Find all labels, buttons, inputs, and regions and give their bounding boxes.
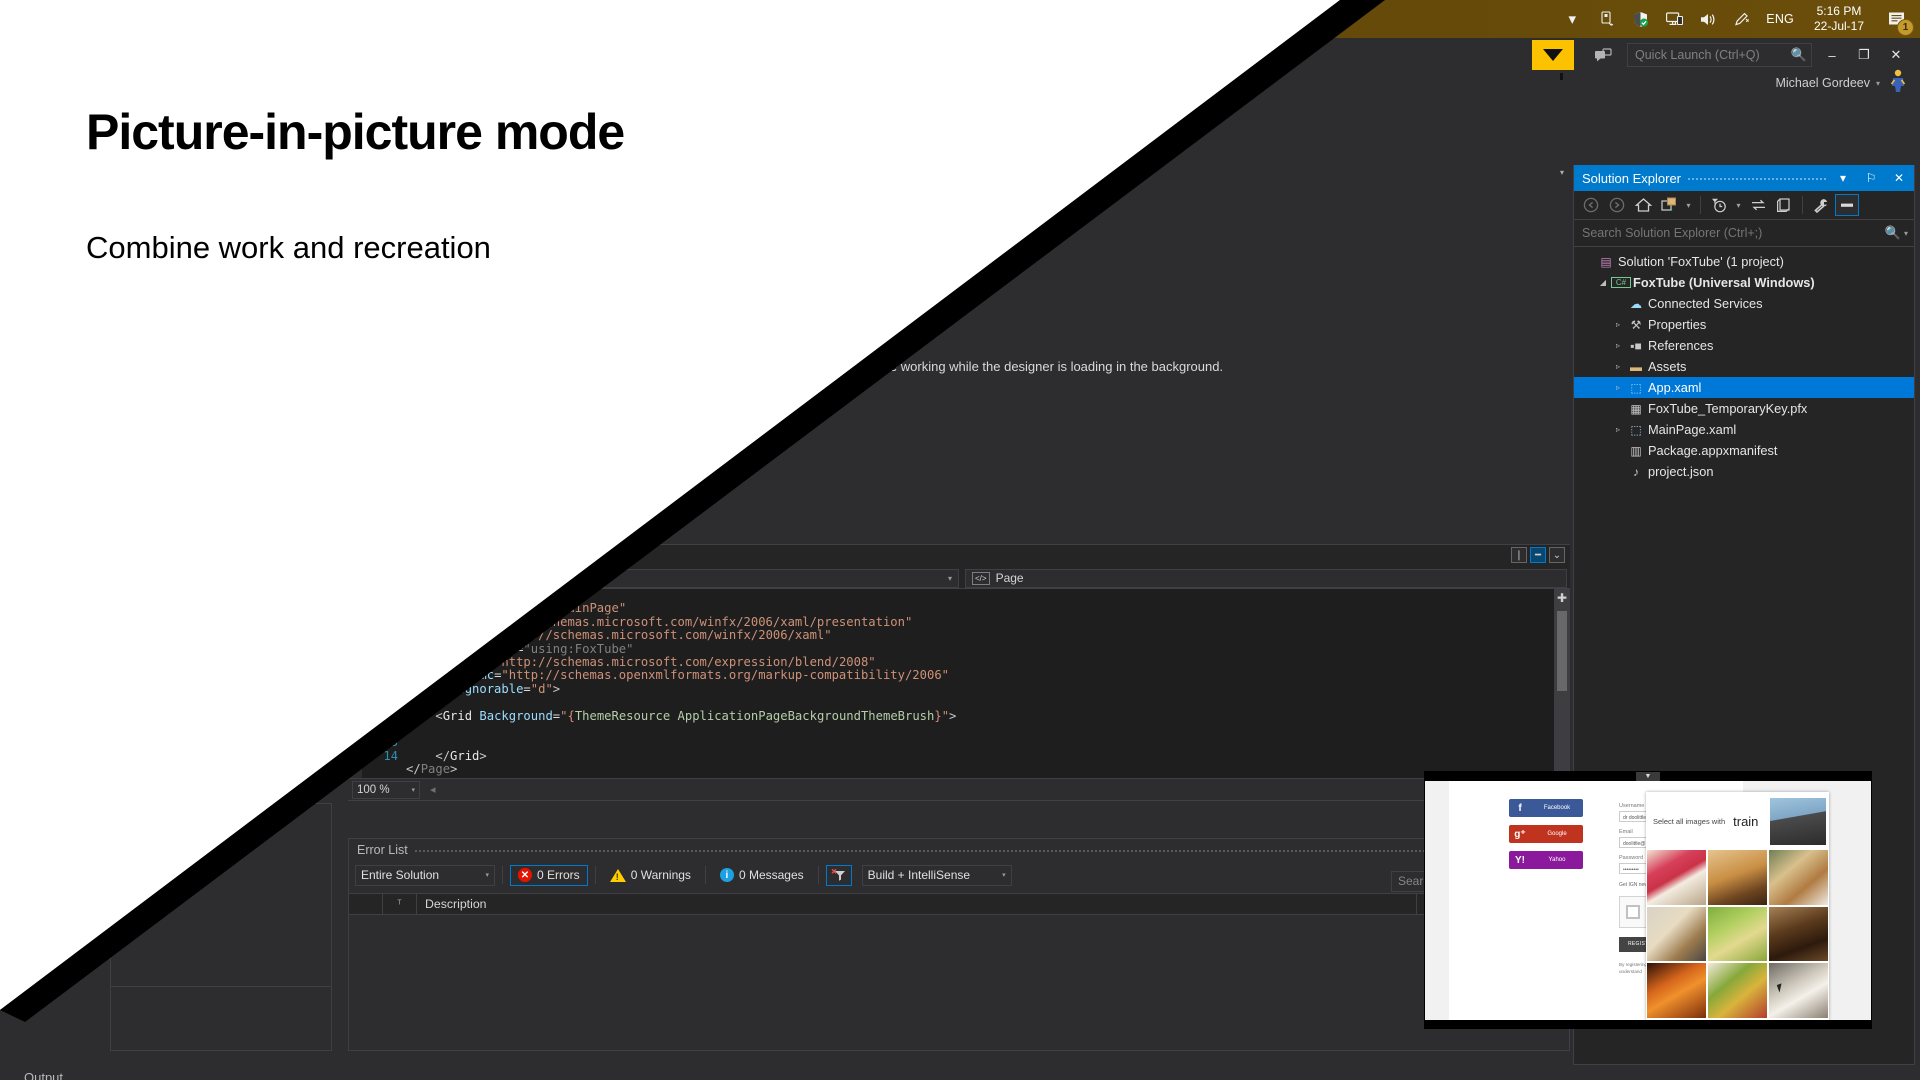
error-list-toolbar: Entire Solution ▾ ✕ 0 Errors 0 Warnings … — [349, 861, 1569, 889]
captcha-tile[interactable] — [1708, 907, 1767, 962]
scope-value: Entire Solution — [361, 868, 439, 882]
output-panel-frame — [110, 803, 332, 1051]
line-number: 8 — [362, 669, 398, 682]
captcha-header: Select all images with train — [1646, 792, 1829, 850]
expander-icon[interactable]: ◢ — [1595, 278, 1611, 287]
tree-item-label: Properties — [1646, 317, 1706, 332]
chevron-down-icon[interactable]: ▾ — [1683, 194, 1694, 216]
pip-video-content: f Facebook g⁺ Google Y! Yahoo Username d… — [1425, 781, 1871, 1020]
tree-item-assets[interactable]: ▹▬Assets — [1574, 356, 1914, 377]
registration-page: f Facebook g⁺ Google Y! Yahoo Username d… — [1449, 781, 1743, 1020]
build-filter-value: Build + IntelliSense — [868, 868, 970, 882]
toolbar-divider — [1802, 196, 1803, 214]
tree-item-references[interactable]: ▹▪■References — [1574, 335, 1914, 356]
references-icon: ▪■ — [1626, 339, 1646, 353]
line-number: 7 — [362, 656, 398, 669]
line-number-gutter: 234567891011121314 — [362, 589, 404, 779]
tree-item-label: project.json — [1646, 464, 1713, 479]
action-center-icon[interactable]: 1 — [1884, 6, 1910, 32]
line-number: 6 — [362, 643, 398, 656]
captcha-target-word: train — [1725, 814, 1758, 829]
chevron-down-icon: ▾ — [411, 786, 415, 794]
page-title: Picture-in-picture mode — [86, 103, 624, 161]
panel-drag-dots — [414, 839, 1569, 861]
facebook-label: Facebook — [1531, 805, 1583, 811]
toolbar-divider — [705, 866, 706, 884]
captcha-tile[interactable] — [1647, 963, 1706, 1018]
line-number: 2 — [362, 589, 398, 602]
google-login-button[interactable]: g⁺ Google — [1509, 825, 1583, 843]
pin-icon[interactable]: ⚐ — [1860, 167, 1882, 189]
picture-in-picture-window[interactable]: ▼ f Facebook g⁺ Google Y! Yahoo — [1425, 772, 1871, 1028]
code-line-12 — [406, 736, 1546, 749]
quick-launch-text: Quick Launch (Ctrl+Q) — [1635, 48, 1760, 62]
home-icon[interactable] — [1631, 194, 1655, 216]
quick-launch-input[interactable]: Quick Launch (Ctrl+Q) — [1627, 43, 1812, 67]
forward-icon[interactable] — [1605, 194, 1629, 216]
captcha-tile[interactable] — [1647, 850, 1706, 905]
solution-explorer-header: Solution Explorer ▾ ⚐ ✕ — [1574, 165, 1914, 191]
steam-locomotive-thumbnail — [1770, 798, 1826, 845]
output-panel-label[interactable]: Output — [24, 1070, 63, 1080]
tree-item-project-json[interactable]: ♪project.json — [1574, 461, 1914, 482]
pen-input-icon[interactable] — [1732, 9, 1752, 29]
sync-with-active-document-icon[interactable] — [1657, 194, 1681, 216]
xaml-file-icon: ⬚ — [1626, 423, 1646, 437]
drag-handle-icon[interactable]: ▼ — [1636, 772, 1660, 781]
toolbar-divider — [502, 866, 503, 884]
code-line-8: mc:Ignorable="d"> — [406, 683, 1546, 696]
output-panel-divider — [111, 986, 331, 987]
error-icon: ✕ — [518, 868, 532, 882]
code-line-9 — [406, 696, 1546, 709]
split-view-buttons: ❘ ━ ⌄ — [1511, 547, 1565, 563]
code-first-line: <Page — [406, 589, 443, 602]
scope-dropdown[interactable]: Entire Solution ▾ — [355, 865, 495, 886]
social-login-buttons: f Facebook g⁺ Google Y! Yahoo — [1509, 799, 1583, 869]
facebook-login-button[interactable]: f Facebook — [1509, 799, 1583, 817]
refresh-icon[interactable] — [1746, 194, 1770, 216]
search-icon[interactable]: 🔍 — [1885, 225, 1901, 241]
chevron-down-icon: ▾ — [1876, 79, 1880, 88]
scrollbar-plus-icon: ✚ — [1557, 591, 1567, 605]
toolbar-divider — [595, 866, 596, 884]
captcha-tile[interactable] — [1708, 850, 1767, 905]
minimize-button[interactable]: – — [1816, 42, 1848, 68]
tree-item-label: Solution 'FoxTube' (1 project) — [1616, 254, 1784, 269]
element-scope-dropdown[interactable]: </> Page — [965, 569, 1567, 588]
user-name: Michael Gordeev — [1775, 76, 1870, 90]
vs-title-bar: Quick Launch (Ctrl+Q) 🔍 – ❐ ✕ Michael Go… — [0, 38, 1920, 104]
expander-icon[interactable]: ▹ — [1610, 383, 1626, 392]
element-icon: </> — [972, 572, 990, 585]
solution-icon: ▤ — [1596, 255, 1616, 269]
tree-item-label: FoxTube (Universal Windows) — [1631, 275, 1815, 290]
warnings-filter-button[interactable]: 0 Warnings — [603, 865, 698, 886]
facebook-icon: f — [1509, 803, 1531, 814]
zoom-level-dropdown[interactable]: 100 % ▾ — [352, 781, 420, 799]
captcha-image-grid[interactable] — [1647, 850, 1828, 1018]
volume-icon[interactable] — [1698, 9, 1718, 29]
solution-explorer-search[interactable]: 🔍 ▾ — [1574, 220, 1914, 247]
horizontal-scroll-left-icon[interactable]: ◂ — [430, 783, 436, 796]
column-header-code[interactable]: ᵀ — [383, 893, 417, 915]
code-line-4: xmlns:x="http://schemas.microsoft.com/wi… — [406, 629, 1546, 642]
screen-root: ▾ ENG 5:16 PM 22-Jul-17 1 — [0, 0, 1920, 1080]
error-list-title: Error List — [357, 843, 408, 857]
preview-selected-items-icon[interactable] — [1835, 194, 1859, 216]
member-scope-dropdown[interactable]: ▾ — [351, 569, 959, 588]
yahoo-login-button[interactable]: Y! Yahoo — [1509, 851, 1583, 869]
tree-item-app-xaml[interactable]: ▹⬚App.xaml — [1574, 377, 1914, 398]
xaml-file-icon: ⬚ — [1626, 381, 1646, 395]
google-plus-icon: g⁺ — [1509, 829, 1531, 840]
search-icon[interactable]: 🔍 — [1791, 47, 1807, 63]
line-number: 12 — [362, 723, 398, 736]
clear-filter-icon[interactable] — [826, 865, 852, 886]
captcha-tile[interactable] — [1708, 963, 1767, 1018]
code-line-1: <Page — [406, 589, 1546, 602]
csharp-project-icon: C# — [1611, 277, 1631, 288]
clock[interactable]: 5:16 PM 22-Jul-17 — [1808, 4, 1870, 34]
code-line-13: </Grid> — [406, 750, 1546, 763]
scrollbar-thumb[interactable] — [1557, 611, 1567, 691]
build-filter-dropdown[interactable]: Build + IntelliSense ▾ — [862, 865, 1012, 886]
back-icon[interactable] — [1579, 194, 1603, 216]
chevron-down-icon: ▾ — [948, 574, 952, 583]
usb-eject-icon[interactable] — [1596, 9, 1616, 29]
panel-menu-icon[interactable]: ▾ — [1832, 167, 1854, 189]
yahoo-icon: Y! — [1509, 855, 1531, 866]
xaml-tab-icon — [403, 551, 414, 565]
user-account-menu[interactable]: Michael Gordeev ▾ — [1775, 76, 1880, 90]
warnings-count-label: 0 Warnings — [631, 868, 691, 882]
chevron-down-icon: ▾ — [485, 871, 489, 879]
tree-item-foxtube-temporarykey-pfx[interactable]: ▦FoxTube_TemporaryKey.pfx — [1574, 398, 1914, 419]
chevron-down-icon: ▾ — [1002, 871, 1006, 879]
wrench-icon: ⚒ — [1626, 318, 1646, 332]
code-line-5: xmlns:local="using:FoxTube" — [406, 643, 1546, 656]
folder-icon: ▬ — [1626, 360, 1646, 374]
pending-changes-filter-icon[interactable] — [1707, 194, 1731, 216]
collapse-pane-button[interactable]: ⌄ — [1549, 547, 1565, 563]
info-icon: i — [720, 868, 734, 882]
designer-zoom-bar: 100 % ▾ ◂ — [348, 779, 1570, 801]
notification-badge: 1 — [1897, 19, 1914, 36]
designer-tab-strip: XAML ❘ ━ ⌄ — [348, 544, 1570, 568]
code-line-7: xmlns:mc="http://schemas.openxmlformats.… — [406, 669, 1546, 682]
captcha-tile[interactable] — [1769, 850, 1828, 905]
line-number: 13 — [362, 736, 398, 749]
language-indicator[interactable]: ENG — [1766, 12, 1794, 26]
editor-vertical-scrollbar[interactable]: ✚ — [1554, 589, 1570, 779]
messages-filter-button[interactable]: i 0 Messages — [713, 865, 811, 886]
windows-taskbar: ▾ ENG 5:16 PM 22-Jul-17 1 — [0, 0, 1920, 38]
pip-bottom-bar — [1425, 1020, 1871, 1028]
code-line-14: </Page> — [406, 763, 1546, 776]
chevron-down-icon[interactable]: ▾ — [1560, 168, 1564, 177]
tree-item-label: App.xaml — [1646, 380, 1701, 395]
tree-item-label: MainPage.xaml — [1646, 422, 1736, 437]
errors-count-label: 0 Errors — [537, 868, 580, 882]
close-icon[interactable]: ✕ — [1888, 167, 1910, 189]
solution-explorer-toolbar: ▾ ▾ — [1574, 191, 1914, 220]
xaml-designer-surface[interactable]: ▾ .... continue working while the design… — [348, 124, 1570, 544]
system-tray: ▾ ENG 5:16 PM 22-Jul-17 1 — [1562, 0, 1920, 38]
expander-icon[interactable]: ▹ — [1610, 341, 1626, 350]
clock-time: 5:16 PM — [1817, 4, 1862, 19]
toolbar-divider — [1700, 196, 1701, 214]
tree-item-solution-foxtube-1-project[interactable]: ▤Solution 'FoxTube' (1 project) — [1574, 251, 1914, 272]
tab-xaml-label: XAML — [419, 551, 452, 565]
page-subtitle: Combine work and recreation — [86, 230, 491, 266]
line-number: 5 — [362, 629, 398, 642]
code-line-11 — [406, 723, 1546, 736]
tree-item-foxtube-universal-windows[interactable]: ◢C#FoxTube (Universal Windows) — [1574, 272, 1914, 293]
error-list-header: Error List — [349, 839, 1569, 861]
close-button[interactable]: ✕ — [1880, 42, 1912, 68]
avatar[interactable] — [1888, 68, 1908, 92]
tree-item-label: FoxTube_TemporaryKey.pfx — [1646, 401, 1807, 416]
line-number: 9 — [362, 683, 398, 696]
certificate-icon: ▦ — [1626, 402, 1646, 416]
show-all-files-icon[interactable] — [1772, 194, 1796, 216]
chevron-down-icon[interactable]: ▾ — [1733, 194, 1744, 216]
vertical-split-button[interactable]: ❘ — [1511, 547, 1527, 563]
code-line-6: xmlns:d="http://schemas.microsoft.com/ex… — [406, 656, 1546, 669]
show-hidden-icons-icon[interactable]: ▾ — [1562, 9, 1582, 29]
expander-icon[interactable]: ▹ — [1610, 362, 1626, 371]
designer-loading-dots: .... — [863, 342, 883, 354]
manifest-icon: ▥ — [1626, 444, 1646, 458]
xaml-code-editor[interactable]: 234567891011121314 <Page x:Class="FoxTub… — [348, 589, 1570, 779]
tree-item-label: References — [1646, 338, 1713, 353]
code-line-2: x:Class="FoxTube.MainPage" — [406, 602, 1546, 615]
captcha-tile[interactable] — [1647, 907, 1706, 962]
captcha-prompt: Select all images with — [1646, 817, 1725, 826]
connected-services-icon: ☁ — [1626, 297, 1646, 311]
line-number: 14 — [362, 750, 398, 763]
tree-item-label: Package.appxmanifest — [1646, 443, 1777, 458]
tab-xaml[interactable]: XAML — [394, 546, 463, 568]
code-line-3: xmlns="http://schemas.microsoft.com/winf… — [406, 616, 1546, 629]
column-header-description[interactable]: Description — [417, 893, 1417, 915]
column-header-blank — [349, 893, 383, 915]
tree-item-package-appxmanifest[interactable]: ▥Package.appxmanifest — [1574, 440, 1914, 461]
search-input[interactable] — [1582, 226, 1885, 240]
line-number: 10 — [362, 696, 398, 709]
feedback-funnel-icon[interactable] — [1532, 40, 1574, 70]
expander-icon[interactable]: ▹ — [1610, 425, 1626, 434]
solution-tree[interactable]: ▤Solution 'FoxTube' (1 project)◢C#FoxTub… — [1574, 247, 1914, 482]
restore-button[interactable]: ❐ — [1848, 42, 1880, 68]
code-content[interactable]: <Page x:Class="FoxTube.MainPage" xmlns="… — [406, 589, 1546, 776]
error-list-column-headers: ᵀ Description File — [349, 893, 1571, 915]
pip-title-bar[interactable]: ▼ — [1425, 772, 1871, 781]
expander-icon[interactable]: ▹ — [1610, 320, 1626, 329]
editor-navigation-bar: ▾ </> Page — [348, 568, 1570, 589]
network-icon[interactable] — [1664, 9, 1684, 29]
json-file-icon: ♪ — [1626, 465, 1646, 479]
errors-filter-button[interactable]: ✕ 0 Errors — [510, 865, 588, 886]
google-label: Google — [1531, 831, 1583, 837]
chevron-down-icon[interactable]: ▾ — [1904, 229, 1908, 238]
window-controls: – ❐ ✕ — [1816, 42, 1912, 68]
yahoo-label: Yahoo — [1531, 857, 1583, 863]
document-well: ▾ .... continue working while the design… — [348, 124, 1570, 807]
solution-explorer-title: Solution Explorer — [1582, 171, 1681, 186]
error-list-panel: Error List Entire Solution ▾ ✕ 0 Errors … — [348, 838, 1570, 1051]
tree-item-connected-services[interactable]: ☁Connected Services — [1574, 293, 1914, 314]
element-scope-value: Page — [996, 571, 1024, 585]
line-number: 11 — [362, 710, 398, 723]
notifications-icon[interactable] — [1588, 44, 1618, 68]
horizontal-split-button[interactable]: ━ — [1530, 547, 1546, 563]
captcha-tile[interactable] — [1769, 907, 1828, 962]
code-line-10: <Grid Background="{ThemeResource Applica… — [406, 710, 1546, 723]
warning-icon — [610, 869, 626, 882]
toolbar-divider — [818, 866, 819, 884]
tree-item-label: Assets — [1646, 359, 1686, 374]
line-number: 3 — [362, 602, 398, 615]
tree-item-properties[interactable]: ▹⚒Properties — [1574, 314, 1914, 335]
captcha-dialog[interactable]: Select all images with train — [1646, 792, 1829, 1020]
recaptcha-checkbox[interactable] — [1626, 905, 1640, 919]
messages-count-label: 0 Messages — [739, 868, 804, 882]
clock-date: 22-Jul-17 — [1814, 19, 1864, 34]
defender-shield-icon[interactable] — [1630, 9, 1650, 29]
designer-loading-message: continue working while the designer is l… — [848, 359, 1223, 374]
properties-icon[interactable] — [1809, 194, 1833, 216]
tree-item-mainpage-xaml[interactable]: ▹⬚MainPage.xaml — [1574, 419, 1914, 440]
tree-item-label: Connected Services — [1646, 296, 1763, 311]
line-number: 4 — [362, 616, 398, 629]
zoom-level-value: 100 % — [357, 784, 390, 796]
editor-indicator-margin — [348, 589, 362, 779]
panel-drag-dots — [1687, 165, 1826, 191]
